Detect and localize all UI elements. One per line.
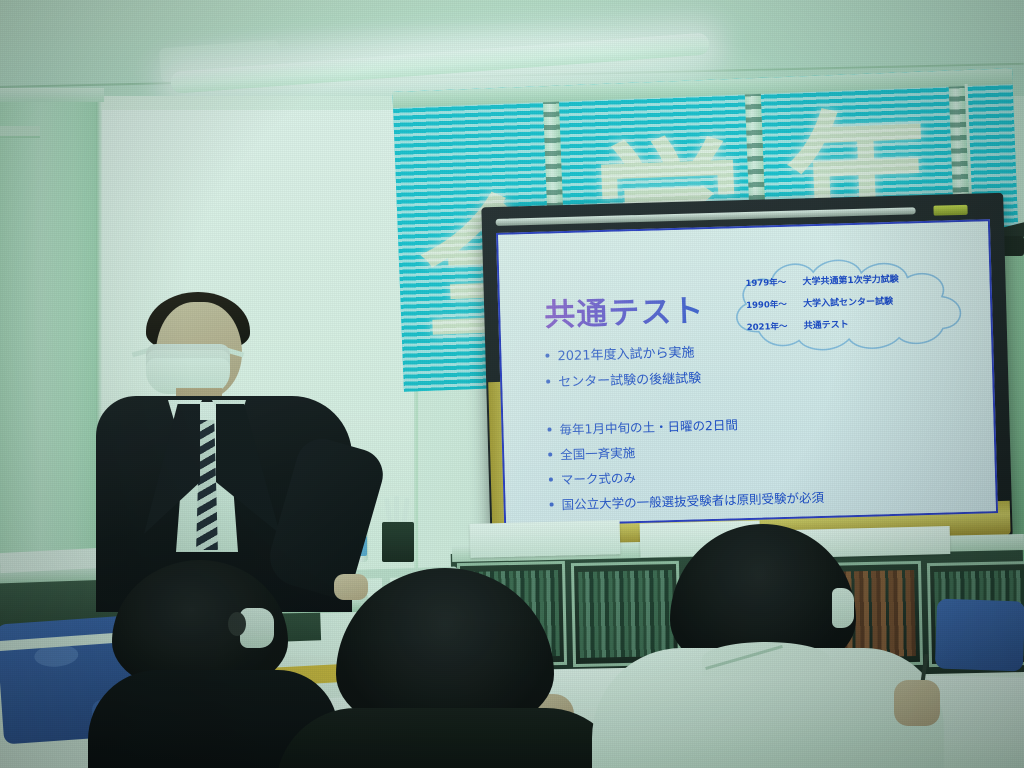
slide-bullets-top: 2021年度入試から実施 センター試験の後継試験 — [545, 341, 701, 397]
cloud-row-name: 大学共通第1次学力試験 — [802, 272, 899, 288]
bullet-text: センター試験の後継試験 — [558, 367, 701, 390]
bullet-item: センター試験の後継試験 — [546, 367, 701, 390]
bullet-item: 毎年1月中旬の土・日曜の2日間 — [547, 411, 847, 438]
cloud-text-lines: 1979年～ 大学共通第1次学力試験 1990年～ 大学入試センター試験 202… — [745, 270, 973, 342]
surgical-mask — [146, 344, 230, 394]
student-left — [104, 560, 314, 768]
student-ear — [228, 612, 246, 636]
bullet-text: 毎年1月中旬の土・日曜の2日間 — [559, 414, 738, 438]
cloud-row-year: 1990年～ — [746, 298, 794, 311]
interactive-whiteboard-display[interactable]: 共通テスト 1979年～ 大学共通第1次学力試験 1990年～ 大学入試センター… — [481, 193, 1012, 551]
classroom-chair[interactable] — [935, 598, 1024, 671]
bullet-dot-icon — [546, 379, 550, 383]
marker-pen[interactable] — [394, 496, 399, 524]
cloud-row-name: 大学入試センター試験 — [803, 294, 893, 310]
bullet-text: 全国一斉実施 — [560, 442, 636, 463]
bullet-dot-icon — [548, 452, 552, 456]
cloud-row-year: 1979年～ — [745, 276, 793, 289]
wall-ledge — [0, 126, 40, 138]
slide-bullets-bottom: 毎年1月中旬の土・日曜の2日間 全国一斉実施 マーク式のみ 国公立大学の一般選抜… — [547, 411, 850, 527]
bullet-item: 全国一斉実施 — [548, 436, 848, 463]
cloud-callout: 1979年～ 大学共通第1次学力試験 1990年～ 大学入試センター試験 202… — [727, 252, 980, 363]
student-right — [606, 524, 936, 768]
pillar-top — [0, 88, 104, 102]
bullet-dot-icon — [550, 502, 554, 506]
bullet-dot-icon — [547, 427, 551, 431]
marker-pen-cup — [382, 522, 414, 562]
bullet-item: 2021年度入試から実施 — [545, 341, 700, 364]
bullet-dot-icon — [545, 354, 549, 358]
stacked-papers — [470, 520, 621, 558]
display-screen[interactable]: 共通テスト 1979年～ 大学共通第1次学力試験 1990年～ 大学入試センター… — [496, 219, 998, 527]
cloud-row-name: 共通テスト — [804, 317, 849, 331]
surgical-mask — [832, 588, 854, 628]
slide-title: 共通テスト — [544, 285, 705, 334]
bullet-text: マーク式のみ — [561, 467, 637, 488]
bullet-item: 国公立大学の一般選抜受験者は原則受験が必須 — [549, 486, 849, 513]
cloud-row: 2021年～ 共通テスト — [747, 314, 973, 333]
display-sensor-label — [933, 205, 967, 216]
cloud-row-year: 2021年～ — [747, 320, 795, 333]
bullet-text: 国公立大学の一般選抜受験者は原則受験が必須 — [561, 487, 824, 513]
bullet-text: 2021年度入試から実施 — [557, 341, 695, 364]
student-hand — [894, 680, 940, 726]
shirt-collar — [702, 642, 830, 676]
cloud-row: 1990年～ 大学入試センター試験 — [746, 292, 972, 311]
student-center — [306, 568, 596, 768]
classroom-photo: 全 学 年 共通テスト — [0, 0, 1024, 768]
bullet-item: マーク式のみ — [549, 461, 849, 488]
student-torso — [276, 708, 626, 768]
bullet-dot-icon — [549, 477, 553, 481]
slide: 共通テスト 1979年～ 大学共通第1次学力試験 1990年～ 大学入試センター… — [498, 221, 996, 525]
